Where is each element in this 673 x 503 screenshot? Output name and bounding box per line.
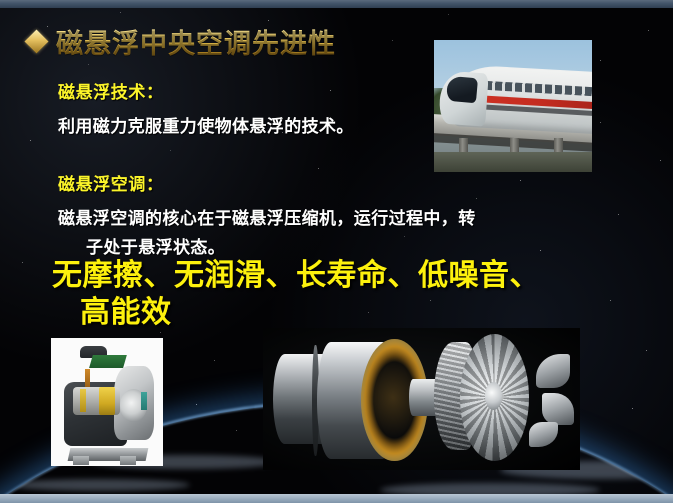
section-body-line: 利用磁力克服重力使物体悬浮的技术。: [58, 112, 354, 137]
section-maglev-hvac: 磁悬浮空调： 磁悬浮空调的核心在于磁悬浮压缩机，运行过程中，转 子处于悬浮状态。: [58, 170, 476, 258]
highlight-line-1: 无摩擦、无润滑、长寿命、低噪音、: [52, 258, 572, 295]
presentation-slide: 磁悬浮中央空调先进性 磁悬浮技术： 利用磁力克服重力使物体悬浮的技术。 磁悬浮空…: [0, 0, 673, 503]
key-benefits-highlight: 无摩擦、无润滑、长寿命、低噪音、 高能效: [52, 258, 572, 331]
highlight-line-2: 高能效: [52, 295, 572, 332]
section-heading: 磁悬浮空调：: [58, 170, 476, 195]
section-body-line: 子处于悬浮状态。: [58, 233, 476, 258]
page-title: 磁悬浮中央空调先进性: [56, 22, 336, 61]
section-body-line: 磁悬浮空调的核心在于磁悬浮压缩机，运行过程中，转: [58, 204, 476, 229]
diamond-bullet-icon: [24, 29, 48, 53]
section-maglev-technology: 磁悬浮技术： 利用磁力克服重力使物体悬浮的技术。: [58, 78, 354, 137]
slide-title-row: 磁悬浮中央空调先进性: [28, 22, 336, 61]
slide-content: 磁悬浮中央空调先进性 磁悬浮技术： 利用磁力克服重力使物体悬浮的技术。 磁悬浮空…: [0, 0, 673, 503]
section-heading: 磁悬浮技术：: [58, 78, 354, 103]
window-bottom-bar: [0, 494, 673, 503]
window-top-bar: [0, 0, 673, 8]
